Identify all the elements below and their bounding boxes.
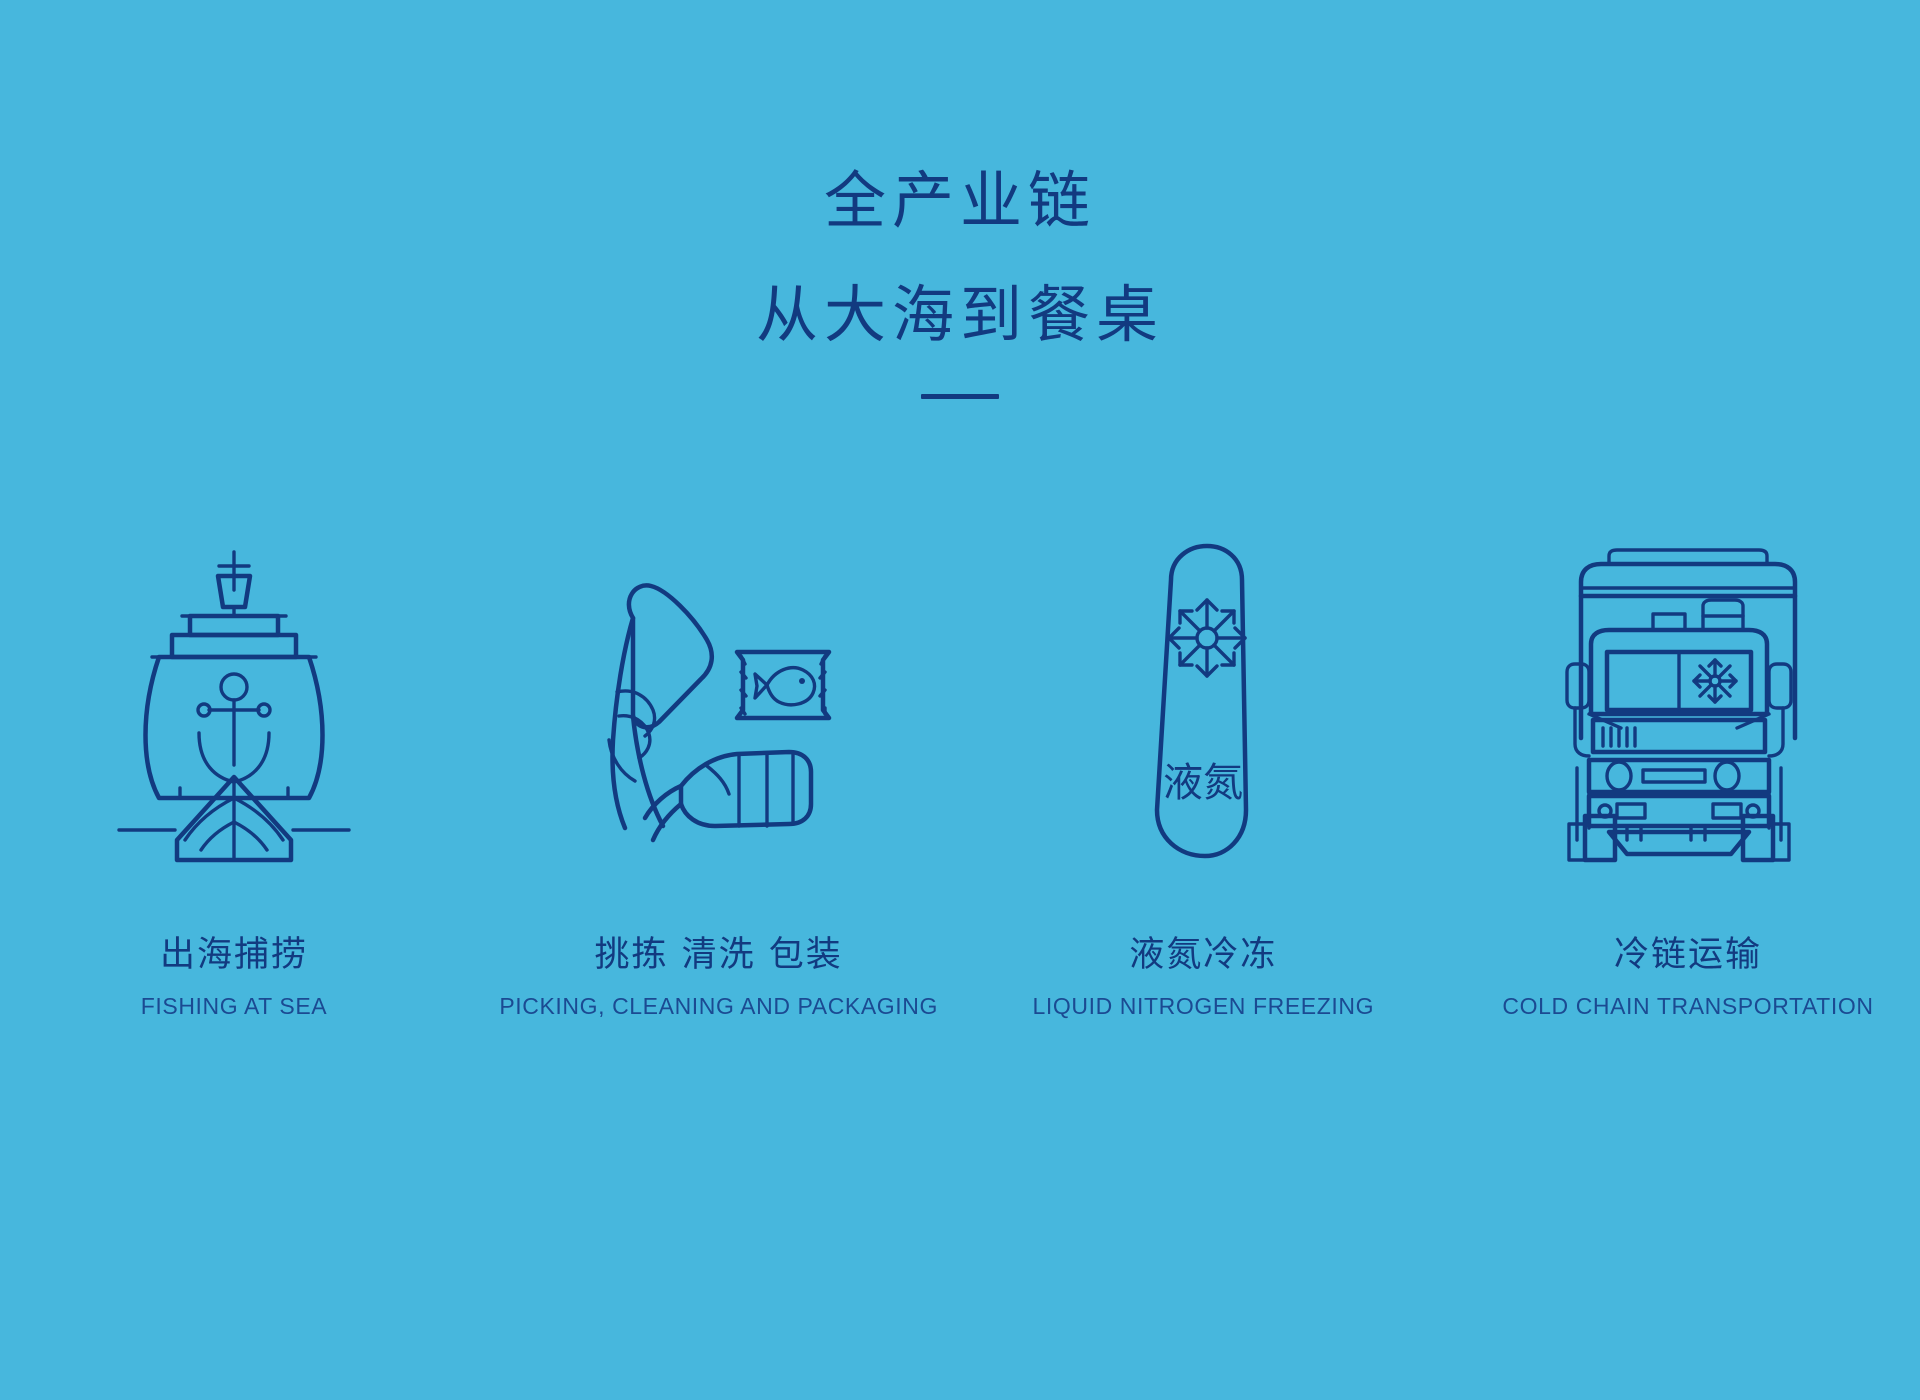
fishing-boat-icon xyxy=(119,550,349,860)
hands-fish-package-icon xyxy=(589,560,849,860)
page-title: 全产业链 xyxy=(0,170,1920,232)
step-label-cn: 挑拣 清洗 包装 xyxy=(595,926,843,977)
snowflake-icon xyxy=(1169,600,1245,676)
step-picking-cleaning-packaging: 挑拣 清洗 包装 PICKING, CLEANING AND PACKAGING xyxy=(479,520,959,1020)
refrigerated-truck-icon xyxy=(1563,548,1813,860)
step-label-en: PICKING, CLEANING AND PACKAGING xyxy=(499,993,938,1020)
refrigerated-truck-icon-box xyxy=(1563,520,1813,860)
hands-fish-package-icon-box xyxy=(589,520,849,860)
step-label-en: LIQUID NITROGEN FREEZING xyxy=(1033,993,1375,1020)
step-label-cn: 出海捕捞 xyxy=(160,926,308,977)
fishing-boat-icon-box xyxy=(119,520,349,860)
header: 全产业链 从大海到餐桌 xyxy=(0,170,1920,399)
step-label-cn: 液氮冷冻 xyxy=(1129,926,1277,977)
snowflake-icon xyxy=(1694,660,1736,702)
title-divider xyxy=(921,394,999,399)
step-label-en: FISHING AT SEA xyxy=(141,993,327,1020)
step-label-cn: 冷链运输 xyxy=(1614,926,1762,977)
step-fishing-at-sea: 出海捕捞 FISHING AT SEA xyxy=(0,520,474,1020)
step-label-en: COLD CHAIN TRANSPORTATION xyxy=(1502,993,1873,1020)
liquid-nitrogen-tank-icon: 液氮 xyxy=(1123,542,1283,860)
page-subtitle: 从大海到餐桌 xyxy=(0,284,1920,346)
step-cold-chain-transportation: 冷链运输 COLD CHAIN TRANSPORTATION xyxy=(1448,520,1920,1020)
liquid-nitrogen-tank-icon-box: 液氮 xyxy=(1123,520,1283,860)
infographic-page: 全产业链 从大海到餐桌 xyxy=(0,0,1920,1400)
tank-text: 液氮 xyxy=(1163,760,1243,806)
step-liquid-nitrogen-freezing: 液氮 液氮冷冻 LIQUID NITROGEN FREEZING xyxy=(963,520,1443,1020)
process-steps: 出海捕捞 FISHING AT SEA xyxy=(0,520,1920,1020)
